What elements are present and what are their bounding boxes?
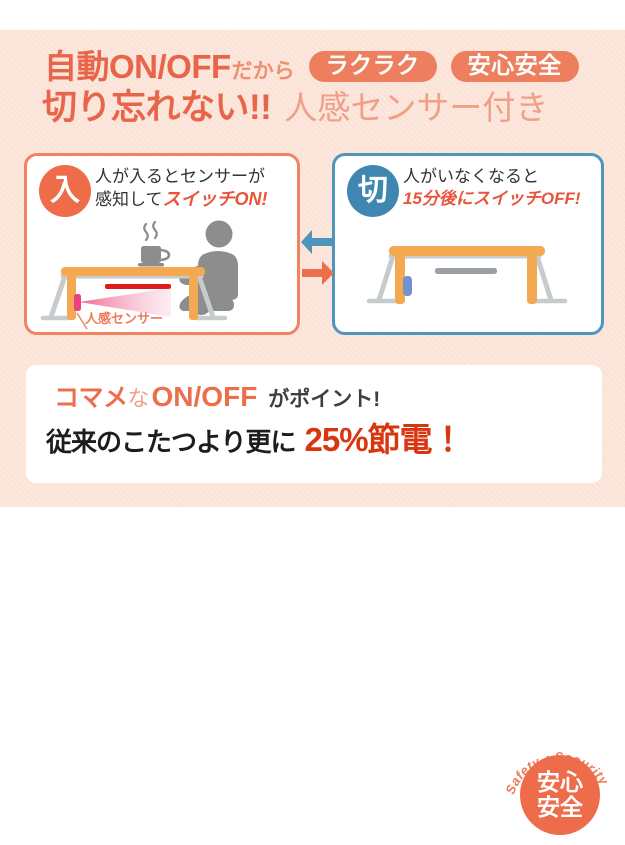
bottom-conventional-text: 従来のこたつより更に (46, 429, 295, 455)
header-main-text: 自動ON/OFF (44, 50, 231, 83)
sensor-caption: 人感センサー (85, 308, 163, 327)
illustration-kotatsu-off (343, 224, 607, 334)
bottom-line-1: コマメ な ON/OFF がポイント! (54, 383, 380, 411)
bottom-point-text: がポイント! (268, 389, 380, 410)
arrow-left-icon (301, 230, 332, 254)
panel-on-text-line1: 人が入るとセンサーが (95, 166, 268, 188)
safety-seal-line2: 安全 (537, 795, 583, 820)
header-suffix-text: だから (232, 61, 295, 82)
flow-arrows (300, 222, 336, 292)
panel-off-text-line2-accent: 15分後にスイッチOFF! (403, 188, 581, 210)
panel-switch-on: 入 人が入るとセンサーが 感知してスイッチON! (24, 153, 300, 335)
panel-off-description: 人がいなくなると 15分後にスイッチOFF! (403, 166, 581, 211)
panel-on-text-line2-accent: スイッチON! (163, 189, 268, 209)
sensor-module-off (403, 276, 412, 296)
bottom-onoff-text: ON/OFF (152, 383, 258, 411)
heater-bar-off (435, 268, 497, 274)
bottom-highlight-card: コマメ な ON/OFF がポイント! 従来のこたつより更に 25%節電！ Sa… (26, 365, 602, 483)
sensor-module (74, 294, 81, 311)
header-line-2: 切り忘れない!! 人感センサー付き (42, 90, 548, 138)
header-secondary-text: 切り忘れない!! (42, 90, 271, 125)
badge-on: 入 (39, 165, 91, 217)
heater-bar-on (105, 284, 171, 289)
header-sensor-text: 人感センサー付き (284, 91, 548, 124)
safety-seal-line1: 安心 (537, 770, 583, 795)
advertisement-banner: 自動ON/OFF だから ラクラク 安心安全 切り忘れない!! 人感センサー付き… (0, 0, 625, 507)
panel-switch-off: 切 人がいなくなると 15分後にスイッチOFF! (332, 153, 604, 335)
header-pill-rakuraku: ラクラク (309, 51, 437, 82)
bottom-line-2: 従来のこたつより更に 25%節電！ (46, 423, 464, 456)
bottom-na-text: な (128, 388, 150, 410)
panel-on-text-line2-plain: 感知して (95, 190, 163, 209)
arrow-right-icon (302, 261, 334, 285)
bottom-saving-text: 25%節電！ (304, 423, 463, 456)
panel-on-description: 人が入るとセンサーが 感知してスイッチON! (95, 166, 268, 212)
cup-icon (138, 246, 169, 267)
badge-off: 切 (347, 165, 399, 217)
header: 自動ON/OFF だから ラクラク 安心安全 切り忘れない!! 人感センサー付き (0, 40, 625, 145)
steam-icon (144, 222, 157, 240)
header-pill-anshin-anzen: 安心安全 (451, 51, 579, 82)
kotatsu-table-off (369, 246, 565, 304)
safety-seal: Safety・Security 安心 安全 (504, 735, 614, 845)
bottom-komame-text: コマメ (54, 386, 128, 411)
panel-off-text-line1: 人がいなくなると (403, 166, 581, 188)
safety-seal-disc: 安心 安全 (520, 755, 600, 835)
panel-on-text-line2: 感知してスイッチON! (95, 188, 268, 212)
header-line-1: 自動ON/OFF だから ラクラク 安心安全 (44, 44, 579, 88)
